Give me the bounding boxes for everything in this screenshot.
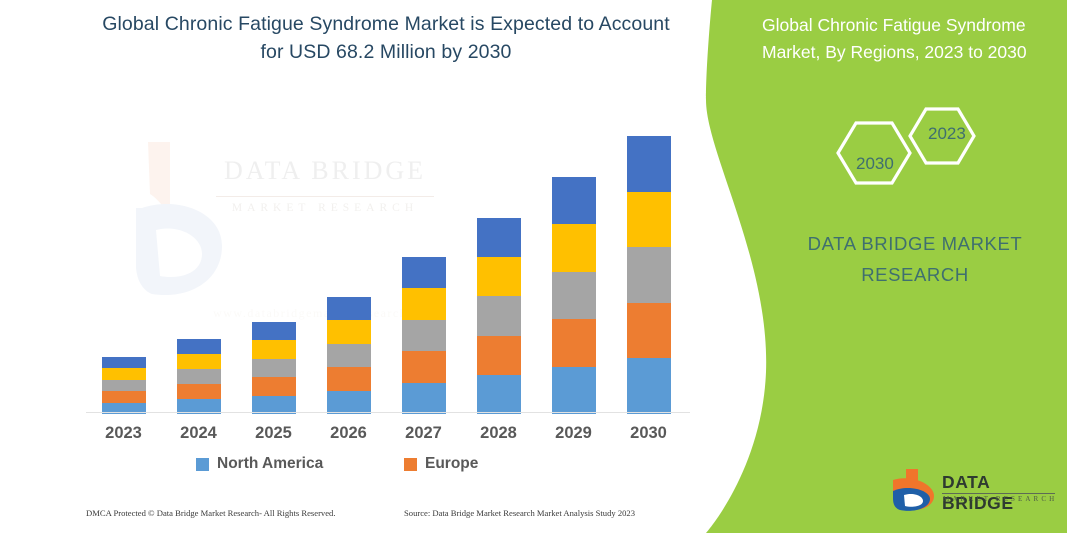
legend-swatch-icon	[404, 458, 417, 471]
bar-segment-north-america[interactable]	[327, 391, 371, 414]
logo-tagline: MARKET RESEARCH	[943, 495, 1057, 503]
databridge-logo-icon	[890, 468, 940, 514]
bar-segment-europe[interactable]	[327, 367, 371, 390]
bar-segment-europe[interactable]	[477, 336, 521, 375]
bar-segment-south-america[interactable]	[402, 288, 446, 319]
bar-segment-europe[interactable]	[552, 319, 596, 366]
chart-plot-area	[86, 120, 686, 414]
infographic-root: Global Chronic Fatigue Syndrome Market i…	[0, 0, 1067, 533]
bar-segment-europe[interactable]	[102, 391, 146, 402]
bar-segment-europe[interactable]	[402, 351, 446, 382]
bar-2026[interactable]	[327, 297, 371, 414]
bar-segment-north-america[interactable]	[477, 375, 521, 414]
bar-segment-middle-east-and-africa[interactable]	[252, 322, 296, 340]
x-label-2023: 2023	[94, 424, 154, 443]
bar-2029[interactable]	[552, 177, 596, 414]
bar-segment-middle-east-and-africa[interactable]	[477, 218, 521, 257]
bar-segment-middle-east-and-africa[interactable]	[552, 177, 596, 224]
bar-segment-south-america[interactable]	[477, 257, 521, 296]
bar-2028[interactable]	[477, 218, 521, 414]
bar-segment-europe[interactable]	[627, 303, 671, 359]
x-label-2024: 2024	[169, 424, 229, 443]
bar-segment-middle-east-and-africa[interactable]	[102, 357, 146, 368]
bar-segment-asia-pacific[interactable]	[627, 247, 671, 303]
brand-line-2: RESEARCH	[861, 264, 969, 285]
bar-segment-south-america[interactable]	[102, 368, 146, 379]
bar-segment-asia-pacific[interactable]	[252, 359, 296, 377]
legend-item-europe[interactable]: Europe	[404, 455, 478, 473]
bar-segment-north-america[interactable]	[552, 367, 596, 414]
bar-segment-asia-pacific[interactable]	[177, 369, 221, 384]
bar-segment-north-america[interactable]	[402, 383, 446, 414]
bar-segment-middle-east-and-africa[interactable]	[327, 297, 371, 320]
brand-text: DATA BRIDGE MARKET RESEARCH	[790, 228, 1040, 290]
x-label-2028: 2028	[469, 424, 529, 443]
logo-divider	[942, 493, 1055, 494]
bar-segment-middle-east-and-africa[interactable]	[627, 136, 671, 192]
hexagon-2030-icon	[838, 123, 910, 183]
legend-label: Europe	[425, 455, 478, 473]
bar-segment-asia-pacific[interactable]	[402, 320, 446, 351]
x-label-2026: 2026	[319, 424, 379, 443]
footer-copyright: DMCA Protected © Data Bridge Market Rese…	[86, 508, 336, 518]
bar-2030[interactable]	[627, 136, 671, 414]
brand-line-1: DATA BRIDGE MARKET	[808, 233, 1023, 254]
bar-segment-north-america[interactable]	[627, 358, 671, 414]
bar-segment-asia-pacific[interactable]	[477, 296, 521, 335]
databridge-logo: DATA BRIDGE MARKET RESEARCH	[890, 468, 1065, 516]
bar-segment-south-america[interactable]	[627, 192, 671, 248]
bar-segment-middle-east-and-africa[interactable]	[177, 339, 221, 354]
x-label-2025: 2025	[244, 424, 304, 443]
bar-2024[interactable]	[177, 339, 221, 414]
hexagon-2030-label: 2030	[856, 154, 894, 174]
bar-segment-europe[interactable]	[177, 384, 221, 399]
bar-segment-asia-pacific[interactable]	[552, 272, 596, 319]
bar-segment-middle-east-and-africa[interactable]	[402, 257, 446, 288]
panel-title: Global Chronic Fatigue Syndrome Market, …	[762, 12, 1058, 66]
legend-item-north-america[interactable]: North America	[196, 455, 323, 473]
x-label-2029: 2029	[544, 424, 604, 443]
bar-segment-south-america[interactable]	[252, 340, 296, 358]
bar-2023[interactable]	[102, 357, 146, 414]
bar-segment-europe[interactable]	[252, 377, 296, 395]
chart-legend: North AmericaEurope	[86, 455, 686, 483]
x-label-2027: 2027	[394, 424, 454, 443]
bar-segment-south-america[interactable]	[177, 354, 221, 369]
chart-title: Global Chronic Fatigue Syndrome Market i…	[96, 10, 676, 66]
bar-segment-asia-pacific[interactable]	[327, 344, 371, 367]
legend-swatch-icon	[196, 458, 209, 471]
chart-x-axis-line	[86, 412, 690, 413]
x-label-2030: 2030	[619, 424, 679, 443]
bar-segment-south-america[interactable]	[327, 320, 371, 343]
chart-x-axis-labels: 20232024202520262027202820292030	[86, 424, 686, 448]
hexagon-2023-label: 2023	[928, 124, 966, 144]
hexagon-icons	[820, 95, 1020, 205]
hexagon-group: 2023 2030	[820, 95, 1020, 205]
legend-label: North America	[217, 455, 323, 473]
bar-segment-south-america[interactable]	[552, 224, 596, 271]
bar-2025[interactable]	[252, 322, 296, 414]
bar-segment-asia-pacific[interactable]	[102, 380, 146, 391]
footer-source: Source: Data Bridge Market Research Mark…	[404, 508, 635, 518]
bar-2027[interactable]	[402, 257, 446, 414]
